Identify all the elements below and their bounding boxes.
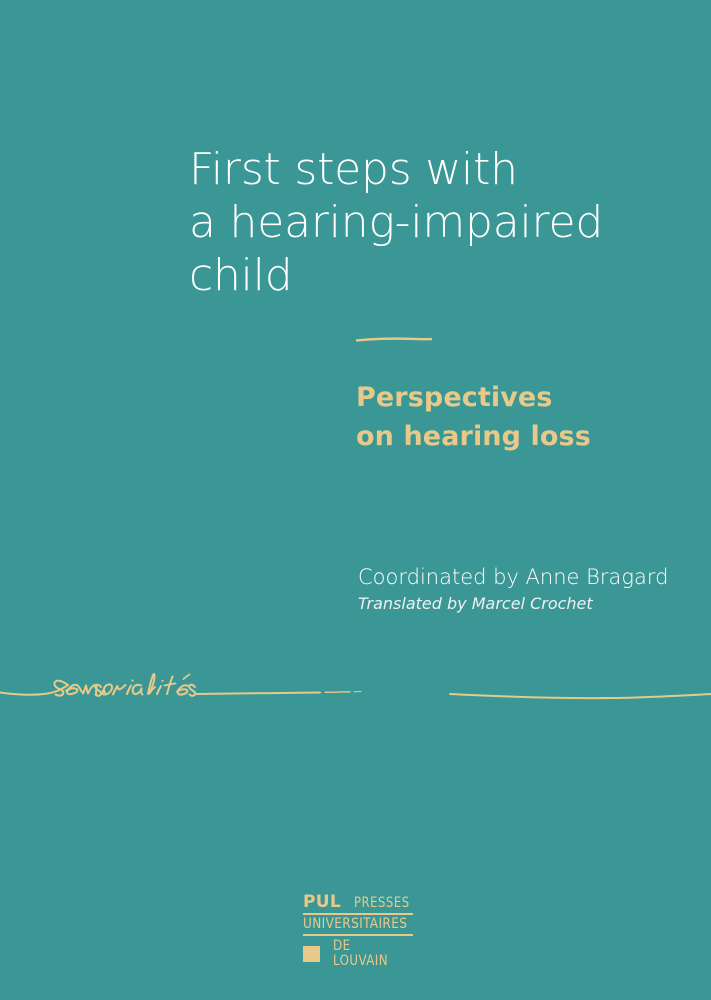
publisher-line-universitaires: UNIVERSITAIRES [303, 916, 409, 932]
subtitle-divider-rule [356, 337, 432, 342]
publisher-line-louvain: DE LOUVAIN [333, 939, 408, 969]
book-cover: First steps with a hearing-impaired chil… [0, 0, 711, 1000]
subtitle: Perspectives on hearing loss [356, 378, 676, 456]
coordinator-credit: Coordinated by Anne Bragard [358, 563, 688, 591]
publisher-logo: PUL PRESSES UNIVERSITAIRES DE LOUVAIN [303, 894, 413, 954]
subtitle-line-1: Perspectives [356, 378, 676, 417]
title-line-1: First steps with [189, 143, 659, 196]
publisher-rule-top [303, 913, 413, 915]
subtitle-line-2: on hearing loss [356, 417, 676, 456]
publisher-square-mark [303, 946, 320, 962]
credits: Coordinated by Anne Bragard Translated b… [358, 563, 688, 616]
title-line-2: a hearing-impaired [189, 196, 659, 249]
publisher-logo-bottom-row: DE LOUVAIN [303, 939, 413, 969]
title-line-3: child [189, 249, 659, 302]
publisher-acronym: PUL [303, 894, 341, 911]
publisher-line-presses: PRESSES [354, 896, 410, 911]
publisher-rule-bottom [303, 934, 413, 936]
series-name-script [0, 648, 711, 723]
publisher-logo-top-row: PUL PRESSES [303, 894, 413, 911]
page-title: First steps with a hearing-impaired chil… [189, 143, 659, 302]
translator-credit: Translated by Marcel Crochet [358, 591, 688, 616]
